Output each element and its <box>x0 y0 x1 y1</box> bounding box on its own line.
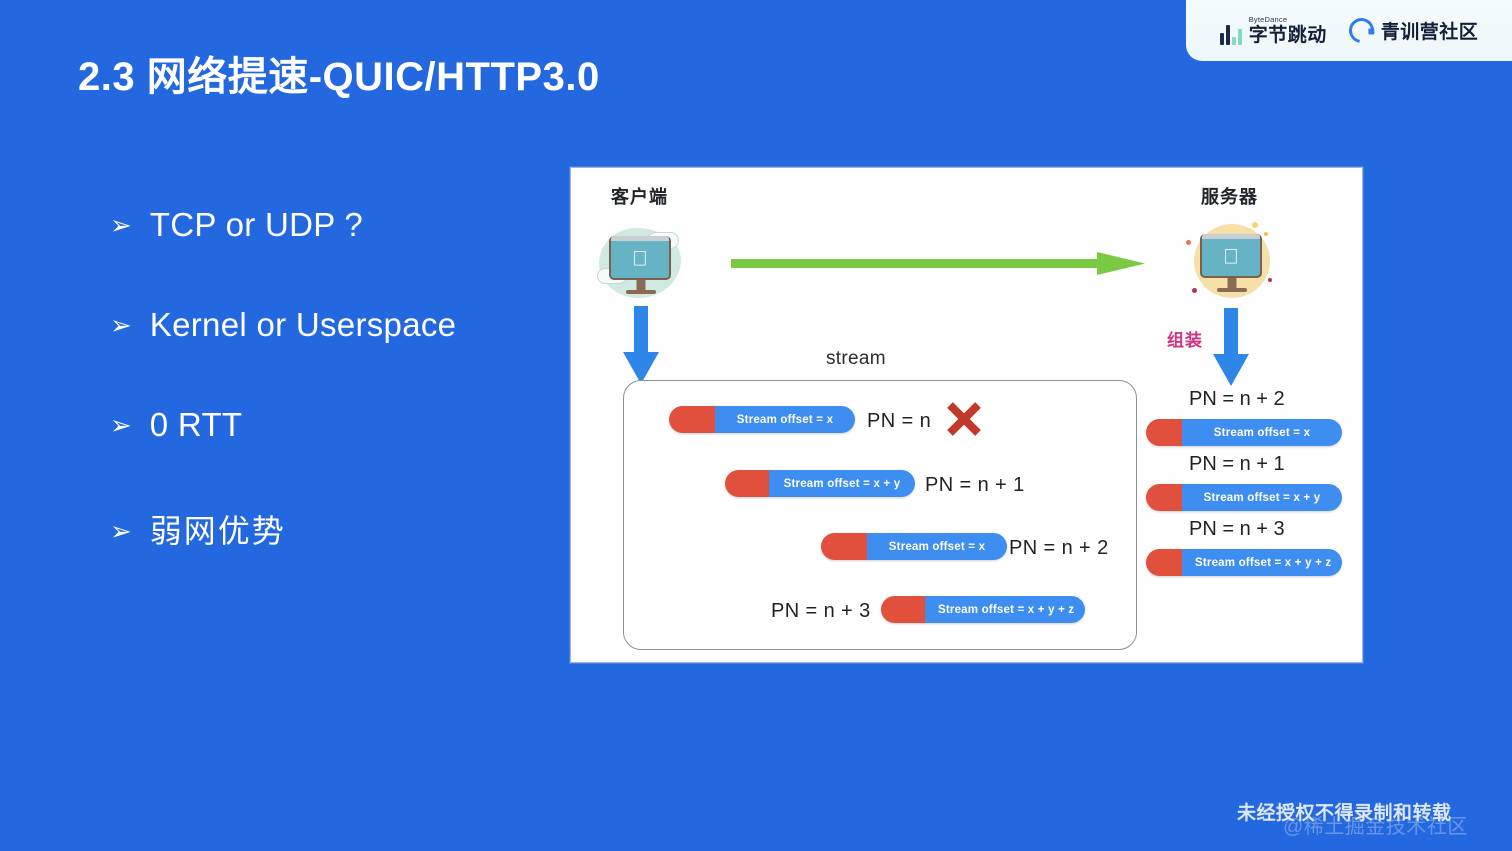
packet-offset-label: Stream offset = x + y + z <box>925 596 1085 623</box>
packet-offset-label: Stream offset = x + y <box>769 470 915 497</box>
received-packet-1: Stream offset = x <box>1146 419 1342 446</box>
bullet-list: ➢ TCP or UDP ? ➢ Kernel or Userspace ➢ 0… <box>110 206 580 552</box>
bullet-item-zero-rtt: ➢ 0 RTT <box>110 406 580 444</box>
packet-offset-label: Stream offset = x + y + z <box>1182 549 1342 576</box>
bytedance-logo-en: ByteDance <box>1249 16 1327 24</box>
client-to-server-arrow-icon <box>731 248 1145 278</box>
community-logo: 青训营社区 <box>1349 17 1479 44</box>
bytedance-logo: ByteDance 字节跳动 <box>1220 16 1327 45</box>
server-computer-icon:  <box>1184 218 1280 304</box>
sent-packet-3: Stream offset = x <box>821 533 1007 560</box>
packet-offset-label: Stream offset = x + y <box>1182 484 1342 511</box>
sent-packet-2: Stream offset = x + y <box>725 470 915 497</box>
client-down-arrow-icon <box>621 306 661 384</box>
sent-packet-1-pn: PN = n <box>867 410 931 433</box>
packet-offset-label: Stream offset = x <box>867 533 1007 560</box>
server-label: 服务器 <box>1201 183 1258 209</box>
stream-label: stream <box>826 348 886 370</box>
received-packet-3: Stream offset = x + y + z <box>1146 549 1342 576</box>
assemble-label: 组装 <box>1167 326 1203 351</box>
packet-header-segment <box>725 470 769 497</box>
received-packet-3-pn: PN = n + 3 <box>1189 518 1285 541</box>
chevron-bullet-icon: ➢ <box>110 412 132 438</box>
bullet-item-tcp-or-udp: ➢ TCP or UDP ? <box>110 206 580 244</box>
packet-header-segment <box>1146 484 1182 511</box>
sent-packet-2-pn: PN = n + 1 <box>925 474 1025 497</box>
community-logo-label: 青训营社区 <box>1381 17 1479 44</box>
bullet-item-kernel-or-userspace: ➢ Kernel or Userspace <box>110 306 580 344</box>
bullet-label: Kernel or Userspace <box>150 306 457 344</box>
bullet-item-weak-network-advantage: ➢ 弱网优势 <box>110 506 580 552</box>
packet-offset-label: Stream offset = x <box>715 406 855 433</box>
bullet-label: TCP or UDP ? <box>150 206 363 244</box>
presentation-slide: ByteDance 字节跳动 青训营社区 2.3 网络提速-QUIC/HTTP3… <box>0 0 1512 851</box>
sent-packet-1: Stream offset = x <box>669 406 855 433</box>
packet-header-segment <box>669 406 715 433</box>
received-packet-2: Stream offset = x + y <box>1146 484 1342 511</box>
packet-header-segment <box>1146 419 1182 446</box>
packet-lost-x-icon <box>945 400 983 438</box>
client-label: 客户端 <box>611 183 668 209</box>
copyright-notice-watermark: 未经授权不得录制和转载 <box>1237 798 1452 825</box>
received-packet-1-pn: PN = n + 2 <box>1189 388 1285 411</box>
chevron-bullet-icon: ➢ <box>110 212 132 238</box>
page-title: 2.3 网络提速-QUIC/HTTP3.0 <box>78 44 600 102</box>
bullet-label: 0 RTT <box>150 406 243 444</box>
received-packet-2-pn: PN = n + 1 <box>1189 453 1285 476</box>
chevron-bullet-icon: ➢ <box>110 312 132 338</box>
sent-packet-4: Stream offset = x + y + z <box>881 596 1085 623</box>
bytedance-logo-cn: 字节跳动 <box>1249 26 1327 45</box>
bytedance-bars-icon <box>1220 25 1242 45</box>
packet-header-segment <box>821 533 867 560</box>
packet-offset-label: Stream offset = x <box>1182 419 1342 446</box>
client-computer-icon:  <box>593 220 689 306</box>
packet-header-segment <box>1146 549 1182 576</box>
brand-badge: ByteDance 字节跳动 青训营社区 <box>1186 0 1512 61</box>
quic-stream-diagram: 客户端 服务器   <box>570 167 1363 663</box>
server-down-arrow-icon <box>1211 308 1251 386</box>
chevron-bullet-icon: ➢ <box>110 518 132 544</box>
bullet-label: 弱网优势 <box>150 506 286 552</box>
sent-packet-4-pn: PN = n + 3 <box>771 600 871 623</box>
sent-packet-3-pn: PN = n + 2 <box>1009 537 1109 560</box>
community-ring-icon <box>1344 13 1379 48</box>
packet-header-segment <box>881 596 925 623</box>
